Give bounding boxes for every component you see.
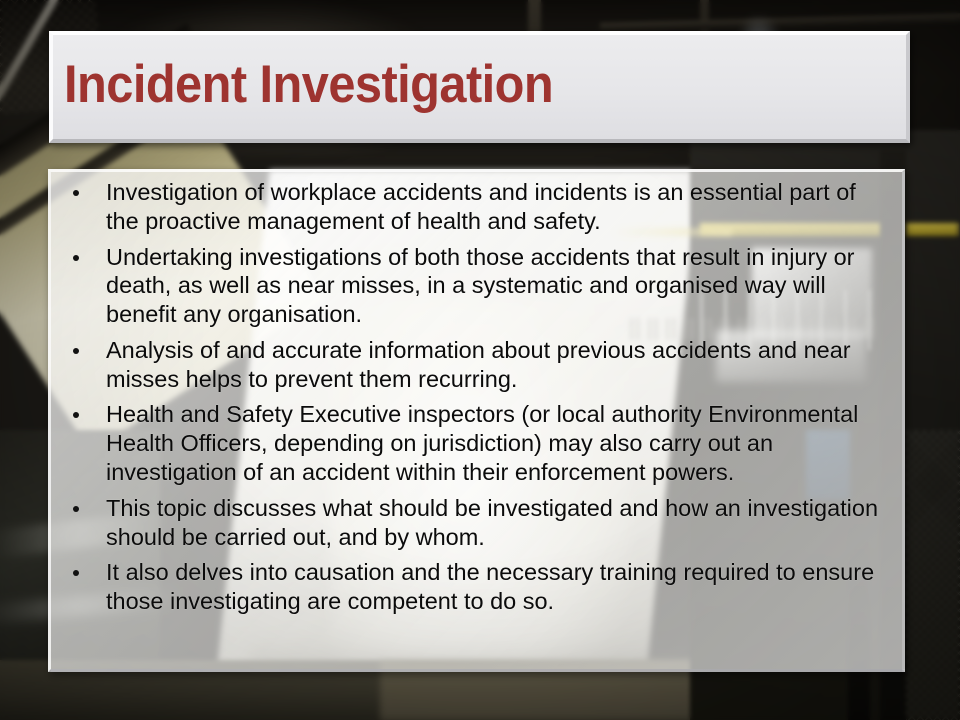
list-item: Analysis of and accurate information abo…: [59, 336, 888, 394]
page-title: Incident Investigation: [53, 58, 553, 117]
title-panel: Incident Investigation: [49, 31, 910, 143]
list-item: It also delves into causation and the ne…: [59, 558, 888, 616]
list-item: Undertaking investigations of both those…: [59, 243, 888, 329]
list-item: Health and Safety Executive inspectors (…: [59, 400, 888, 486]
bullet-list: Investigation of workplace accidents and…: [59, 178, 888, 616]
content-panel: Investigation of workplace accidents and…: [48, 169, 905, 672]
list-item: Investigation of workplace accidents and…: [59, 178, 888, 236]
presentation-slide: Incident Investigation Investigation of …: [0, 0, 960, 720]
list-item: This topic discusses what should be inve…: [59, 494, 888, 552]
